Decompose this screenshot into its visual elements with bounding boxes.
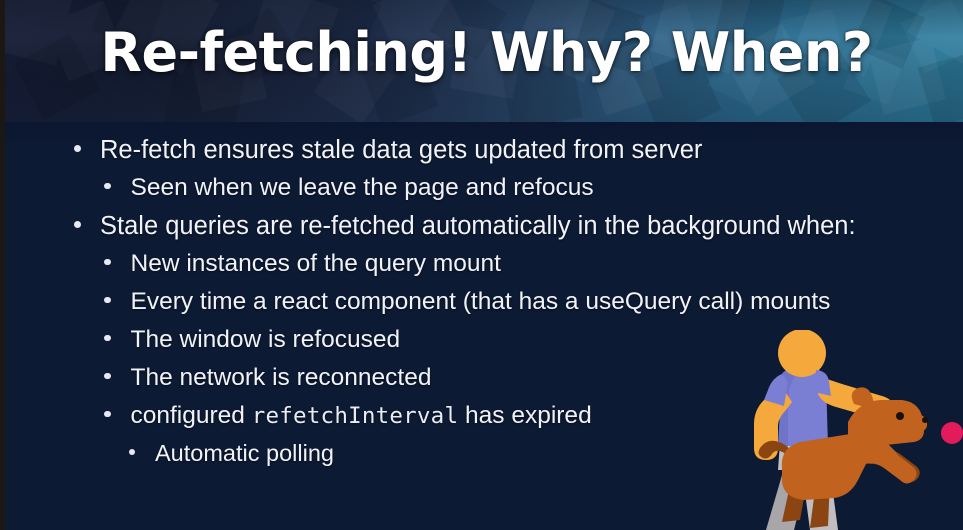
list-item-label: Re-fetch ensures stale data gets updated… — [100, 136, 702, 165]
list-item: The window is refocused — [5, 326, 963, 364]
list-item-code: configured refetchInterval has expired — [5, 402, 963, 440]
list-item: The network is reconnected — [5, 364, 963, 402]
list-item-label: The window is refocused — [131, 326, 401, 354]
code-text-after: has expired — [458, 402, 591, 429]
bullet-list: Re-fetch ensures stale data gets updated… — [5, 136, 963, 530]
slide: Re-fetching! Why? When? Re-fetch ensures… — [0, 0, 963, 530]
list-item: New instances of the query mount — [5, 250, 963, 288]
list-item: Every time a react component (that has a… — [5, 288, 963, 326]
list-item-label: configured refetchInterval has expired — [131, 402, 592, 430]
list-item-label: Automatic polling — [155, 440, 334, 467]
list-item: Automatic polling — [5, 440, 963, 478]
list-item: Seen when we leave the page and refocus — [5, 174, 963, 212]
bullet-dot-icon — [74, 221, 81, 228]
slide-header: Re-fetching! Why? When? — [5, 0, 963, 122]
list-item-label: Every time a react component (that has a… — [131, 288, 831, 316]
bullet-dot-icon — [104, 335, 111, 342]
list-item-label: Stale queries are re-fetched automatical… — [100, 212, 856, 241]
bullet-dot-icon — [104, 259, 111, 266]
bullet-dot-icon — [129, 449, 135, 455]
bullet-dot-icon — [104, 183, 111, 190]
code-text-before: configured — [131, 402, 252, 429]
bullet-dot-icon — [104, 373, 111, 380]
list-item: Re-fetch ensures stale data gets updated… — [5, 136, 963, 174]
list-item-label: New instances of the query mount — [131, 250, 501, 278]
list-item-label: The network is reconnected — [131, 364, 432, 392]
code-token: refetchInterval — [252, 403, 458, 429]
bullet-dot-icon — [104, 297, 111, 304]
list-item-label: Seen when we leave the page and refocus — [131, 174, 594, 202]
bullet-dot-icon — [104, 411, 111, 418]
bullet-dot-icon — [74, 145, 81, 152]
list-item: Stale queries are re-fetched automatical… — [5, 212, 963, 250]
page-title: Re-fetching! Why? When? — [5, 21, 963, 84]
